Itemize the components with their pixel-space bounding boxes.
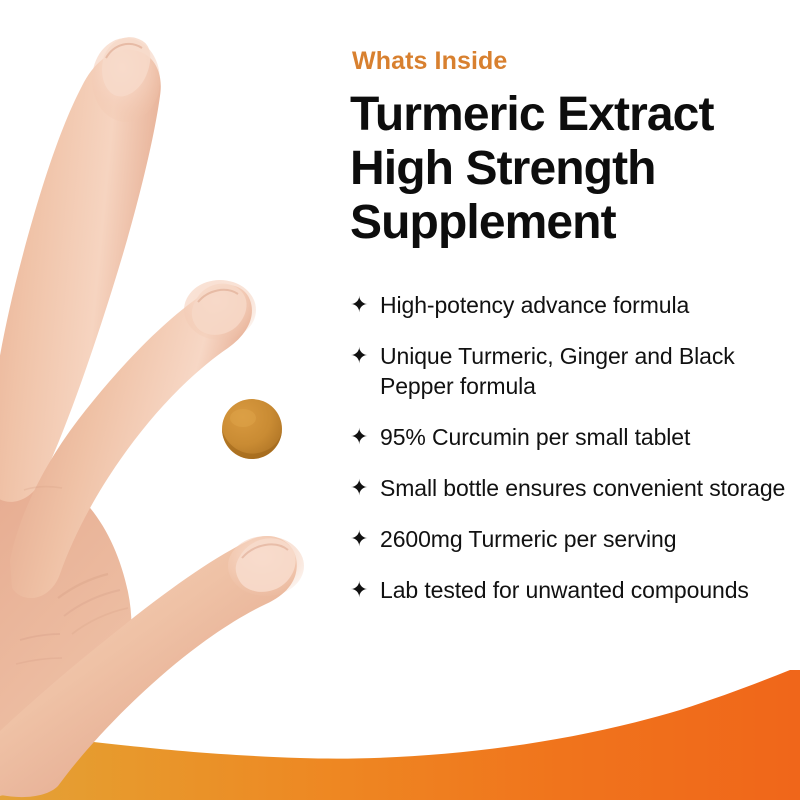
list-item-label: 2600mg Turmeric per serving xyxy=(380,524,790,554)
four-pointed-star-icon: ✦ xyxy=(350,473,374,503)
eyebrow-label: Whats Inside xyxy=(352,48,507,76)
four-pointed-star-icon: ✦ xyxy=(350,290,374,320)
tablet-highlight xyxy=(230,409,256,427)
list-item: ✦ Small bottle ensures convenient storag… xyxy=(350,473,790,503)
list-item: ✦ 2600mg Turmeric per serving xyxy=(350,524,790,554)
product-feature-image: Whats Inside Turmeric Extract High Stren… xyxy=(0,0,800,800)
list-item-label: 95% Curcumin per small tablet xyxy=(380,422,790,452)
list-item-label: High-potency advance formula xyxy=(380,290,790,320)
headline-line-2: High Strength xyxy=(350,142,800,196)
list-item-label: Unique Turmeric, Ginger and Black Pepper… xyxy=(380,341,790,401)
hand-illustration xyxy=(0,0,340,800)
headline-line-1: Turmeric Extract xyxy=(350,88,800,142)
four-pointed-star-icon: ✦ xyxy=(350,524,374,554)
feature-list: ✦ High-potency advance formula ✦ Unique … xyxy=(350,290,790,605)
list-item: ✦ 95% Curcumin per small tablet xyxy=(350,422,790,452)
headline-line-3: Supplement xyxy=(350,196,800,250)
list-item-label: Small bottle ensures convenient storage xyxy=(380,473,790,503)
list-item: ✦ Unique Turmeric, Ginger and Black Pepp… xyxy=(350,341,790,401)
round-turmeric-tablet xyxy=(222,399,282,459)
list-item-label: Lab tested for unwanted compounds xyxy=(380,575,790,605)
text-content-column: Whats Inside Turmeric Extract High Stren… xyxy=(350,0,790,800)
hand-holding-tablet xyxy=(0,0,340,800)
list-item: ✦ Lab tested for unwanted compounds xyxy=(350,575,790,605)
page-title: Turmeric Extract High Strength Supplemen… xyxy=(350,88,800,250)
four-pointed-star-icon: ✦ xyxy=(350,422,374,452)
list-item: ✦ High-potency advance formula xyxy=(350,290,790,320)
four-pointed-star-icon: ✦ xyxy=(350,575,374,605)
four-pointed-star-icon: ✦ xyxy=(350,341,374,371)
